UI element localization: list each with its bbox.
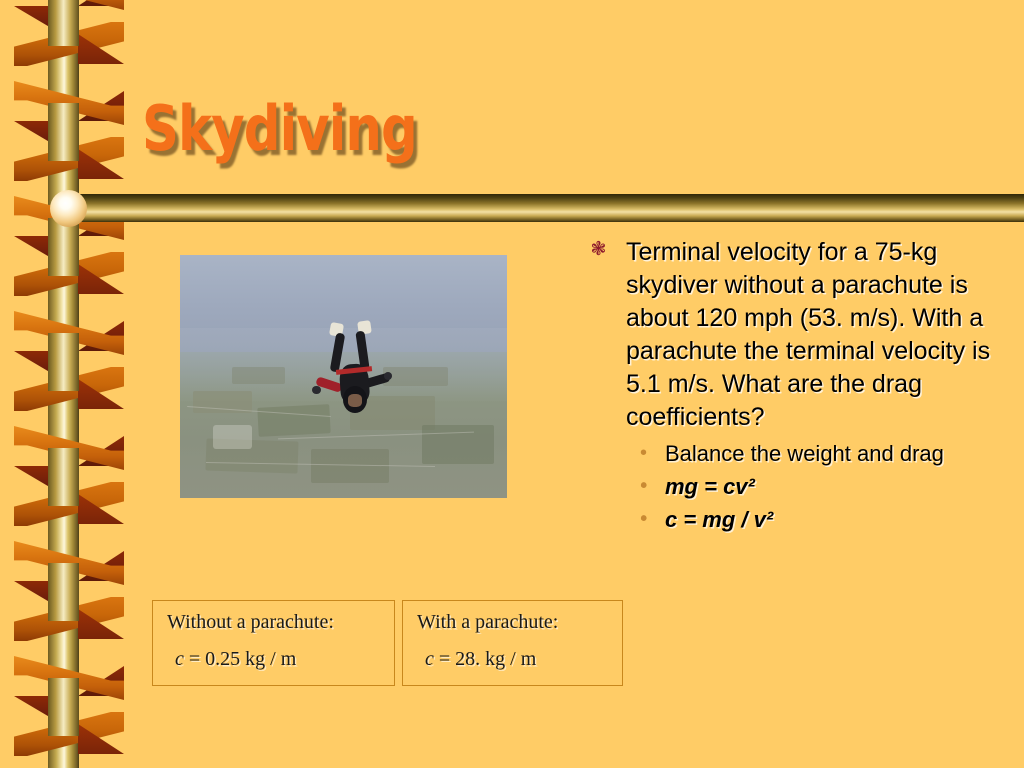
answer-variable: c xyxy=(175,648,184,670)
answer-box-result: c = 28. kg / m xyxy=(417,648,610,671)
main-bullet-text: Terminal velocity for a 75-kg skydiver w… xyxy=(626,238,990,431)
photo-field xyxy=(232,367,284,384)
ribbon-pole-front xyxy=(48,218,79,276)
ribbon-spiral xyxy=(0,0,135,768)
main-bullet-item: ❃ Terminal velocity for a 75-kg skydiver… xyxy=(586,236,1006,434)
ribbon-pole-front xyxy=(48,103,79,161)
ribbon-pole-front xyxy=(48,333,79,391)
dot-bullet-icon: • xyxy=(640,439,647,468)
ribbon-pole-front xyxy=(48,678,79,736)
skydiver-photo xyxy=(180,255,507,498)
answer-variable: c xyxy=(425,648,434,670)
ribbon-pole-front xyxy=(48,448,79,506)
title-divider-bar xyxy=(58,194,1024,222)
glowing-sphere-icon xyxy=(50,190,87,227)
ribbon-pole-front xyxy=(48,0,79,46)
sub-bullet-list: • Balance the weight and drag • mg = cv²… xyxy=(586,439,1006,534)
sub-bullet-text: Balance the weight and drag xyxy=(665,441,944,466)
answer-box-result: c = 0.25 kg / m xyxy=(167,648,382,671)
answer-box-with-parachute: With a parachute: c = 28. kg / m xyxy=(402,600,623,686)
sub-bullet-item: • mg = cv² xyxy=(638,472,1006,501)
dot-bullet-icon: • xyxy=(640,505,647,534)
flower-bullet-icon: ❃ xyxy=(590,241,607,258)
photo-field xyxy=(422,425,494,464)
sub-bullet-item: • Balance the weight and drag xyxy=(638,439,1006,468)
body-text-column: ❃ Terminal velocity for a 75-kg skydiver… xyxy=(586,236,1006,538)
answer-box-without-parachute: Without a parachute: c = 0.25 kg / m xyxy=(152,600,395,686)
skydiver-figure xyxy=(311,323,396,425)
ribbon-pole-front xyxy=(48,563,79,621)
answer-value: = 28. kg / m xyxy=(434,648,536,670)
skydiver-hand xyxy=(312,386,321,394)
answer-box-heading: With a parachute: xyxy=(417,611,610,634)
photo-field xyxy=(311,449,389,483)
answer-value: = 0.25 kg / m xyxy=(184,648,296,670)
answer-box-heading: Without a parachute: xyxy=(167,611,382,634)
sub-bullet-text: mg = cv² xyxy=(665,474,755,499)
slide-canvas: Skydiving xyxy=(0,0,1024,768)
skydiver-hand xyxy=(384,372,393,380)
sub-bullet-text: c = mg / v² xyxy=(665,507,773,532)
dot-bullet-icon: • xyxy=(640,472,647,501)
page-title: Skydiving xyxy=(142,92,417,165)
decorative-ribbon-border xyxy=(0,0,135,768)
photo-town xyxy=(213,425,252,449)
skydiver-face xyxy=(348,394,362,406)
sub-bullet-item: • c = mg / v² xyxy=(638,505,1006,534)
